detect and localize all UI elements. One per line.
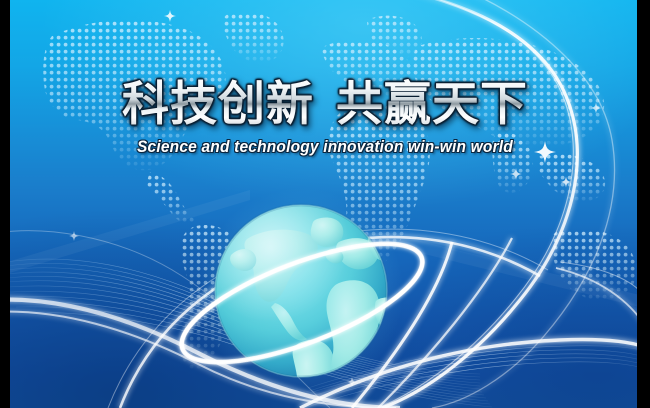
page-title: 科技创新共赢天下: [0, 76, 650, 132]
border-right: [637, 0, 650, 408]
orbit-ring: [0, 0, 650, 408]
border-left: [0, 0, 10, 408]
headline-secondary: 共赢天下: [336, 77, 528, 130]
promotional-banner: 科技创新共赢天下 Science and technology innovati…: [0, 0, 650, 408]
page-subtitle: Science and technology innovation win-wi…: [20, 138, 631, 157]
headline-primary: 科技创新: [122, 77, 314, 130]
